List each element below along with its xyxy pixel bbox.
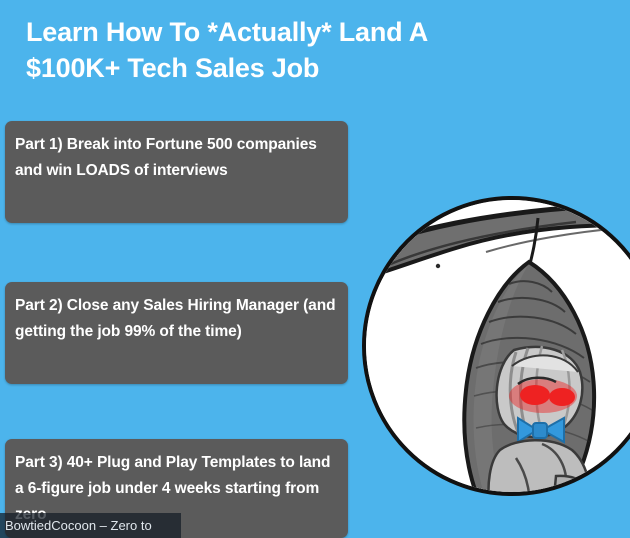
part-1-box: Part 1) Break into Fortune 500 companies… (5, 121, 348, 223)
caption-bar: BowtiedCocoon – Zero to (0, 513, 181, 538)
page-title: Learn How To *Actually* Land A $100K+ Te… (26, 14, 566, 86)
caption-label: BowtiedCocoon – Zero to (5, 518, 152, 533)
cocoon-illustration-icon (366, 200, 630, 492)
part-2-box: Part 2) Close any Sales Hiring Manager (… (5, 282, 348, 384)
part-2-label: Part 2) Close any Sales Hiring Manager (… (15, 293, 338, 345)
part-1-label: Part 1) Break into Fortune 500 companies… (15, 132, 338, 184)
cocoon-avatar (362, 196, 630, 496)
slide-canvas: Learn How To *Actually* Land A $100K+ Te… (0, 0, 630, 538)
